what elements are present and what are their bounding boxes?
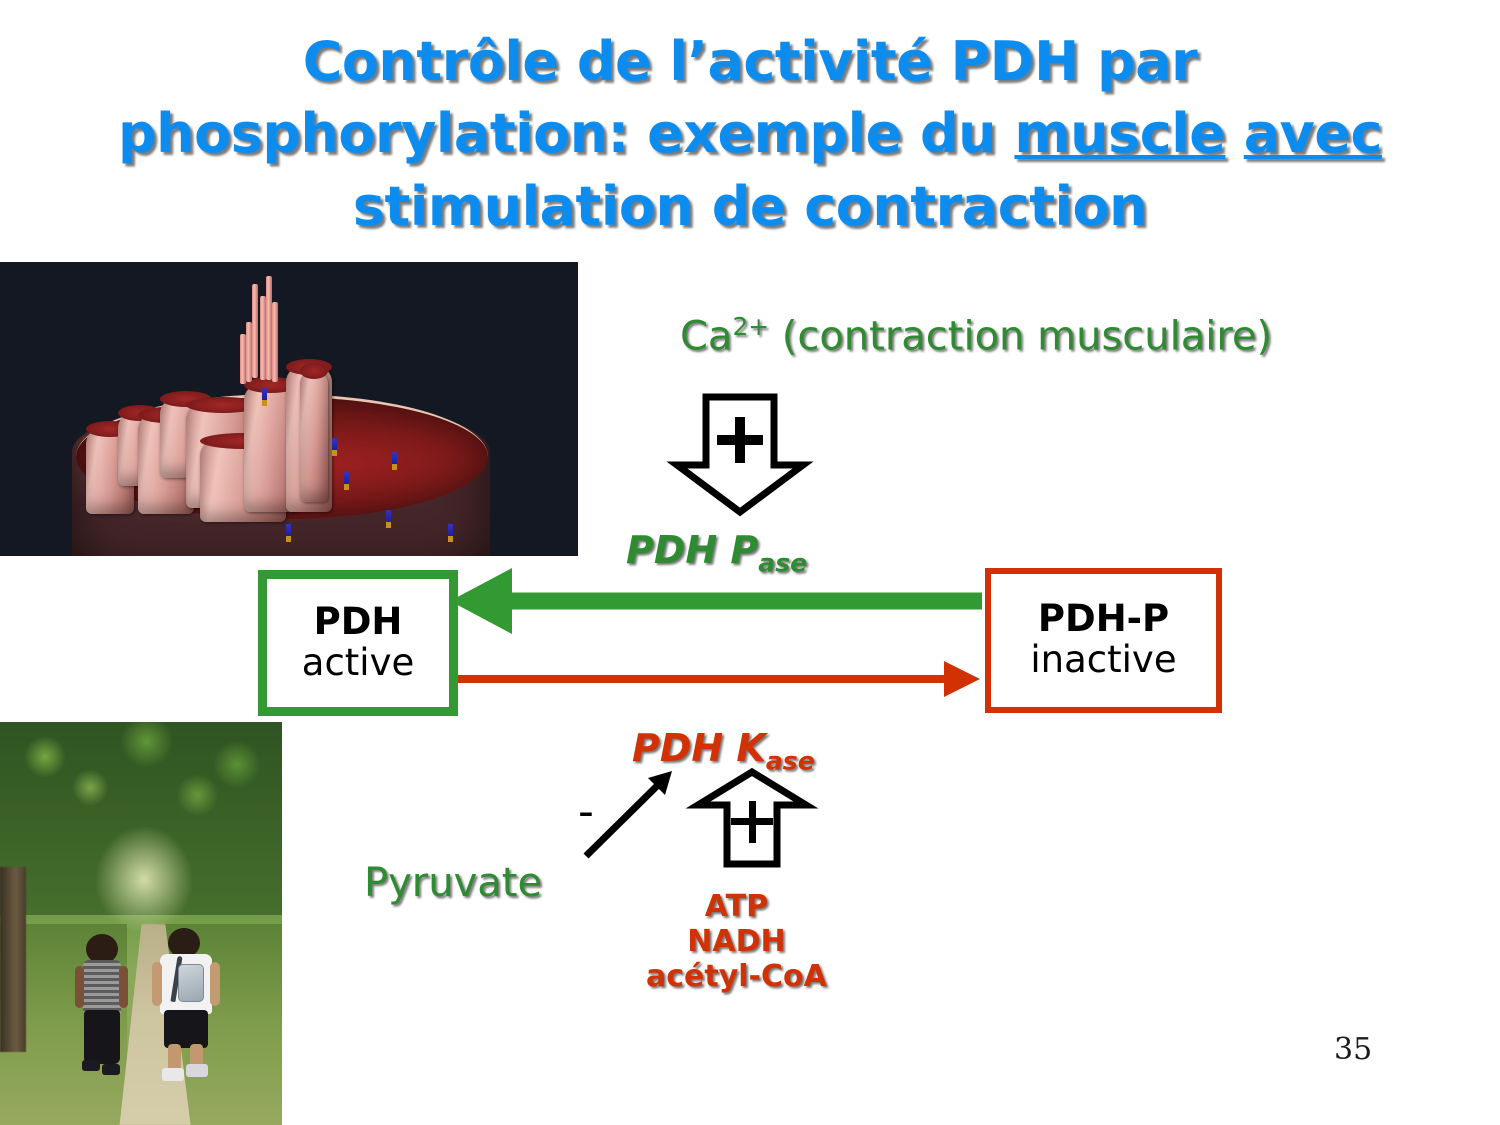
pdh-active-box: PDH active — [258, 570, 458, 716]
inhibition-minus-sign: - — [578, 786, 594, 837]
muscle-marker-pin — [344, 472, 349, 487]
page-title: Contrôle de l’activité PDH par phosphory… — [60, 26, 1440, 243]
muscle-fibril — [246, 322, 252, 382]
activator-acetyl-coa: acétyl-CoA — [646, 959, 827, 994]
torso — [83, 960, 121, 1014]
shoe — [162, 1068, 184, 1081]
pdh-phosphatase-label: PDH Pase — [626, 528, 807, 578]
legs — [84, 1010, 120, 1064]
title-line-2-space — [1225, 102, 1243, 165]
pdh-phosphatase-main: PDH P — [626, 528, 758, 572]
muscle-fibril — [252, 284, 258, 378]
muscle-marker-pin — [332, 438, 337, 453]
calcium-symbol: Ca — [680, 313, 732, 359]
pdh-kinase-label: PDH Kase — [632, 726, 815, 776]
legs — [164, 1010, 208, 1048]
kinase-activators-label: ATPNADHacétyl-CoA — [646, 890, 827, 994]
muscle-marker-pin — [286, 524, 291, 539]
pyruvate-label: Pyruvate — [364, 860, 542, 906]
plus-sign-top — [717, 417, 763, 463]
muscle-fascicle — [300, 370, 328, 502]
arm-left — [152, 962, 162, 1006]
arm-right — [210, 962, 220, 1006]
pdh-active-state: active — [302, 642, 414, 683]
backpack — [178, 964, 204, 1002]
activator-atp: ATP — [705, 889, 768, 924]
muscle-marker-pin — [448, 524, 453, 539]
title-line-3: stimulation de contraction — [353, 175, 1147, 238]
title-underlined-muscle: muscle — [1014, 102, 1225, 165]
phosphatase-arrow-green — [450, 568, 982, 634]
walker-person-left — [72, 934, 132, 1086]
calcium-label: Ca2+ (contraction musculaire) — [680, 312, 1272, 359]
arm-left — [75, 966, 84, 1008]
page-number: 35 — [1334, 1032, 1372, 1067]
arm-right — [119, 966, 128, 1008]
muscle-fibril — [272, 302, 278, 382]
shoe — [102, 1064, 120, 1075]
pdh-inactive-box: PDH-P inactive — [985, 568, 1222, 713]
pdh-inactive-title: PDH-P — [1038, 600, 1169, 639]
title-line-1: Contrôle de l’activité PDH par — [303, 30, 1198, 93]
kinase-activation-block-arrow — [698, 772, 806, 864]
pdh-kinase-sub: ase — [766, 747, 815, 776]
muscle-cross-section-image — [0, 262, 578, 556]
title-line-2-prefix: phosphorylation: exemple du — [118, 102, 1014, 165]
activator-nadh: NADH — [687, 924, 785, 959]
shoe — [186, 1064, 208, 1077]
walker-person-right — [152, 928, 224, 1092]
title-underlined-avec: avec — [1244, 102, 1382, 165]
shoe — [82, 1060, 100, 1071]
muscle-marker-pin — [262, 388, 267, 403]
plus-sign-bottom — [731, 801, 773, 843]
pyruvate-inhibition-arrow — [586, 771, 672, 856]
walking-people-photo — [0, 722, 282, 1125]
calcium-description: (contraction musculaire) — [769, 313, 1272, 359]
calcium-charge: 2+ — [732, 312, 769, 341]
muscle-marker-pin — [392, 452, 397, 467]
pdh-kinase-main: PDH K — [632, 726, 766, 770]
calcium-activation-block-arrow — [677, 397, 803, 512]
pdh-active-title: PDH — [314, 603, 403, 642]
pdh-phosphatase-sub: ase — [758, 549, 807, 578]
pdh-inactive-state: inactive — [1030, 639, 1176, 680]
kinase-arrow-orange — [458, 661, 980, 697]
tree-trunk — [0, 867, 26, 1052]
muscle-marker-pin — [386, 510, 391, 525]
background-light — [96, 827, 192, 932]
muscle-fibril — [240, 334, 246, 384]
